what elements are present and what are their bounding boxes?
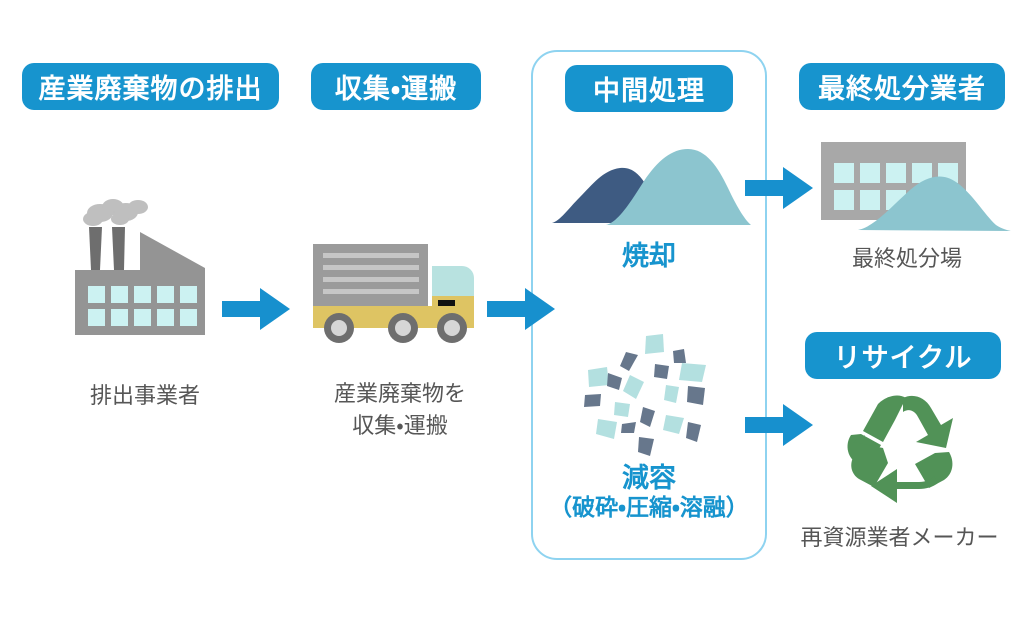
- recycle-icon: [845, 390, 967, 513]
- arrow-collection-to-intermediate: [487, 288, 555, 335]
- label-volume-reduction: 減容 （破砕・圧縮・溶融）: [531, 462, 767, 522]
- caption-recycler-manufacturer: 再資源業者メーカー: [775, 522, 1024, 554]
- caption-final-disposal-site: 最終処分場: [790, 243, 1024, 275]
- landfill-icon: [800, 130, 1015, 240]
- waste-pile-icon: [548, 143, 753, 233]
- truck-icon: [311, 236, 489, 349]
- label-incineration-main: 焼却: [531, 240, 767, 272]
- label-volume-reduction-main: 減容: [531, 462, 767, 494]
- badge-final-disposal-operator[interactable]: 最終処分業者: [799, 63, 1005, 110]
- waste-flow-diagram: 産業廃棄物の排出: [0, 0, 1024, 623]
- badge-industrial-waste-discharge[interactable]: 産業廃棄物の排出: [22, 63, 279, 110]
- badge-collection-transport[interactable]: 収集・運搬: [311, 63, 481, 110]
- label-incineration: 焼却: [531, 240, 767, 272]
- caption-collection-transport: 産業廃棄物を 収集・運搬: [275, 378, 525, 442]
- caption-discharging-business: 排出事業者: [0, 380, 290, 412]
- badge-intermediate-treatment[interactable]: 中間処理: [565, 65, 733, 112]
- label-volume-reduction-sub: （破砕・圧縮・溶融）: [531, 494, 767, 522]
- shards-icon: [560, 330, 740, 465]
- arrow-reduction-to-recycle: [745, 404, 813, 451]
- badge-recycle[interactable]: リサイクル: [805, 332, 1001, 379]
- caption-collection-line1: 産業廃棄物を: [334, 381, 466, 406]
- factory-icon: [60, 190, 230, 345]
- caption-collection-line2: 収集・運搬: [352, 413, 447, 438]
- arrow-discharge-to-collection: [222, 288, 290, 335]
